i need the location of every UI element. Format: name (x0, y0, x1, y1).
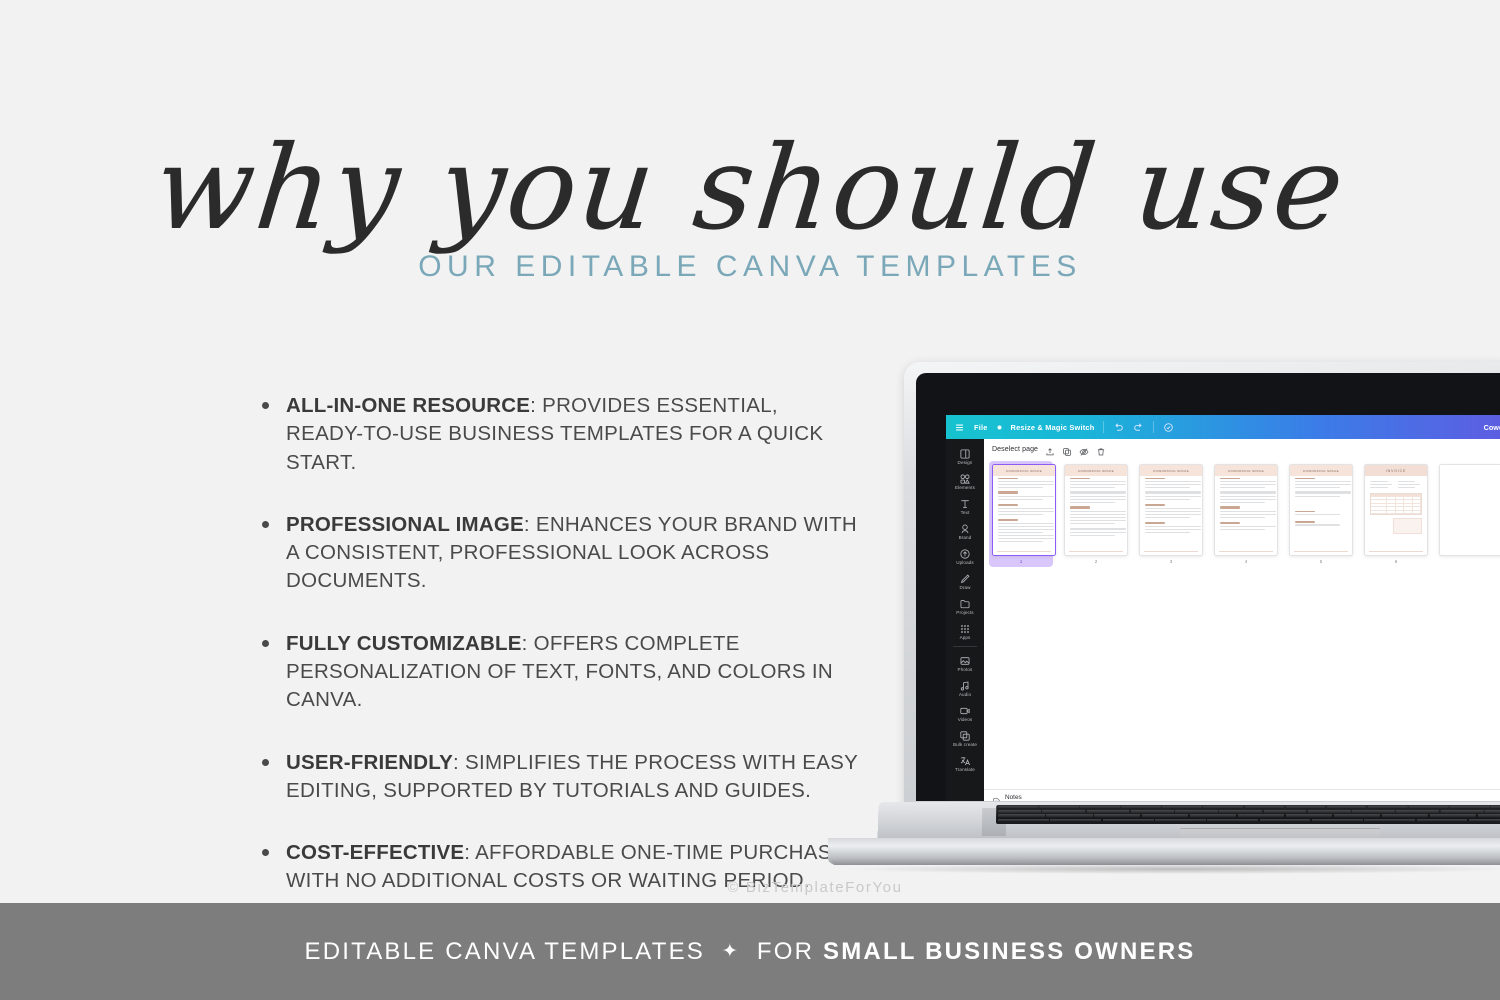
laptop-screen: File Resize & Magic Switch (916, 373, 1500, 801)
page-number: 3 (1139, 559, 1203, 564)
canva-topbar: File Resize & Magic Switch (946, 415, 1500, 439)
diamond-icon: ✦ (722, 940, 740, 963)
page-preview: COWORKING SPACE (1214, 464, 1278, 556)
page-preview (1439, 464, 1500, 556)
list-item: ALL-IN-ONE RESOURCE: PROVIDES ESSENTIAL,… (258, 392, 858, 477)
sidebar-item-elements[interactable]: Elements (946, 468, 984, 493)
export-page-icon[interactable] (1045, 444, 1055, 454)
sidebar-label: Projects (946, 610, 984, 615)
sidebar-item-text[interactable]: Text (946, 493, 984, 518)
canva-canvas-area: Deselect page (984, 439, 1500, 801)
laptop-shadow (848, 864, 1500, 874)
benefit-title: USER-FRIENDLY (286, 751, 453, 774)
page-header-band: COWORKING SPACE (1290, 465, 1352, 476)
redo-icon[interactable] (1133, 422, 1144, 433)
canva-editor: File Resize & Magic Switch (946, 415, 1500, 801)
page-header-band: COWORKING SPACE (1065, 465, 1127, 476)
page-header-band: COWORKING SPACE (1140, 465, 1202, 476)
design-icon (959, 447, 971, 459)
page-number: 6 (1364, 559, 1428, 564)
page-header-title: INVOICE (1386, 469, 1406, 473)
page-toolbar: Deselect page (984, 439, 1500, 458)
notes-icon (992, 793, 1001, 801)
sidebar-item-audio[interactable]: Audio (946, 675, 984, 700)
sidebar-item-design[interactable]: Design (946, 443, 984, 468)
draw-icon (959, 572, 971, 584)
duplicate-page-icon[interactable] (1062, 444, 1072, 454)
hamburger-menu-icon[interactable] (954, 422, 965, 433)
page-header-title: COWORKING SPACE (1078, 469, 1114, 473)
sidebar-label: Uploads (946, 560, 984, 565)
sidebar-label: Translate (946, 767, 984, 772)
magic-edit-icon[interactable] (1079, 444, 1089, 454)
page-thumbnail-strip: COWORKING SPACE 1 (984, 458, 1500, 567)
text-icon (959, 497, 971, 509)
toolbar-divider (1103, 421, 1104, 433)
sidebar-label: Photos (946, 667, 984, 672)
laptop-lid: File Resize & Magic Switch (904, 362, 1500, 814)
page-header-band: COWORKING SPACE (993, 465, 1055, 476)
benefit-title: COST-EFFECTIVE (286, 841, 464, 864)
page-number: 4 (1214, 559, 1278, 564)
page-thumbnail-4[interactable]: COWORKING SPACE 4 (1214, 464, 1278, 564)
page-thumbnail-1[interactable]: COWORKING SPACE 1 (989, 461, 1053, 567)
benefit-title: ALL-IN-ONE RESOURCE (286, 394, 530, 417)
page-thumbnail-7[interactable] (1439, 464, 1500, 556)
page-subtitle: OUR EDITABLE CANVA TEMPLATES (0, 250, 1500, 284)
benefit-title: PROFESSIONAL IMAGE (286, 513, 524, 536)
page-thumbnail-6[interactable]: INVOICE (1364, 464, 1428, 564)
invoice-info-blocks (1365, 476, 1427, 490)
apps-icon (959, 622, 971, 634)
watermark: © BizTemplateForYou (0, 879, 1500, 896)
footer-text: EDITABLE CANVA TEMPLATES ✦ FOR SMALL BUS… (305, 938, 1196, 966)
sidebar-item-uploads[interactable]: Uploads (946, 543, 984, 568)
sidebar-label: Draw (946, 585, 984, 590)
delete-page-icon[interactable] (1096, 444, 1106, 454)
invoice-table (1370, 493, 1422, 515)
videos-icon (959, 704, 971, 716)
resize-magic-switch-button[interactable]: Resize & Magic Switch (1011, 423, 1095, 432)
laptop-keyboard (996, 805, 1500, 824)
page-preview: COWORKING SPACE (1139, 464, 1203, 556)
sidebar-label: Brand (946, 535, 984, 540)
sidebar-item-brand[interactable]: Brand (946, 518, 984, 543)
bulk-create-icon (959, 729, 971, 741)
page-header-band: COWORKING SPACE (1215, 465, 1277, 476)
page-header-title: COWORKING SPACE (1228, 469, 1264, 473)
page-preview: COWORKING SPACE (1289, 464, 1353, 556)
sidebar-item-bulk-create[interactable]: Bulk create (946, 725, 984, 750)
footer-lead: EDITABLE CANVA TEMPLATES (305, 938, 705, 965)
undo-icon[interactable] (1113, 422, 1124, 433)
photos-icon (959, 654, 971, 666)
canva-sidebar: Design Elements Text Brand (946, 439, 984, 801)
laptop-base (818, 802, 1500, 868)
page-preview: INVOICE (1364, 464, 1428, 556)
benefit-title: FULLY CUSTOMIZABLE (286, 632, 522, 655)
audio-icon (959, 679, 971, 691)
page-header-band: INVOICE (1365, 465, 1427, 476)
page-thumbnail-3[interactable]: COWORKING SPACE 3 (1139, 464, 1203, 564)
sidebar-label: Bulk create (946, 742, 984, 747)
footer-bar: EDITABLE CANVA TEMPLATES ✦ FOR SMALL BUS… (0, 903, 1500, 1000)
laptop-base-top (877, 802, 1500, 842)
list-item: PROFESSIONAL IMAGE: ENHANCES YOUR BRAND … (258, 511, 858, 596)
page-header-title: COWORKING SPACE (1006, 469, 1042, 473)
page-title: why you should use (0, 128, 1500, 250)
magic-sparkle-icon (997, 425, 1002, 430)
footer-mid: FOR (757, 938, 814, 965)
projects-icon (959, 597, 971, 609)
sidebar-item-photos[interactable]: Photos (946, 650, 984, 675)
page-header-title: COWORKING SPACE (1303, 469, 1339, 473)
page-number: 5 (1289, 559, 1353, 564)
page-number: 2 (1064, 559, 1128, 564)
deselect-page-button[interactable]: Deselect page (992, 446, 1038, 453)
page-preview: COWORKING SPACE (1064, 464, 1128, 556)
toolbar-divider (1153, 421, 1154, 433)
invoice-totals (1393, 518, 1422, 534)
page-number: 1 (992, 559, 1050, 564)
file-menu-button[interactable]: File (974, 423, 988, 432)
sidebar-label: Text (946, 510, 984, 515)
sidebar-item-apps[interactable]: Apps (946, 618, 984, 643)
laptop-mockup: File Resize & Magic Switch (818, 362, 1500, 872)
sidebar-item-draw[interactable]: Draw (946, 568, 984, 593)
page-thumbnail-5[interactable]: COWORKING SPACE 5 (1289, 464, 1353, 564)
sidebar-item-translate[interactable]: Translate (946, 750, 984, 775)
sidebar-item-projects[interactable]: Projects (946, 593, 984, 618)
sidebar-label: Apps (946, 635, 984, 640)
brand-icon (959, 522, 971, 534)
sidebar-label: Design (946, 460, 984, 465)
translate-icon (959, 754, 971, 766)
sidebar-label: Videos (946, 717, 984, 722)
sidebar-label: Audio (946, 692, 984, 697)
page-preview: COWORKING SPACE (992, 464, 1056, 556)
page-header-title: COWORKING SPACE (1153, 469, 1189, 473)
page-thumbnail-2[interactable]: COWORKING SPACE 2 (1064, 464, 1128, 564)
list-item: FULLY CUSTOMIZABLE: OFFERS COMPLETE PERS… (258, 630, 858, 715)
elements-icon (959, 472, 971, 484)
uploads-icon (959, 547, 971, 559)
list-item: USER-FRIENDLY: SIMPLIFIES THE PROCESS WI… (258, 749, 858, 806)
notes-bar[interactable]: Notes (984, 789, 1500, 801)
document-title[interactable]: Coworking Spa (1484, 423, 1500, 432)
canva-body: Design Elements Text Brand (946, 439, 1500, 801)
cloud-sync-icon[interactable] (1163, 422, 1174, 433)
sidebar-label: Elements (946, 485, 984, 490)
benefits-list: ALL-IN-ONE RESOURCE: PROVIDES ESSENTIAL,… (258, 392, 858, 930)
sidebar-divider (953, 646, 977, 647)
footer-bold: SMALL BUSINESS OWNERS (823, 938, 1195, 965)
notes-label: Notes (1005, 794, 1022, 801)
sidebar-item-videos[interactable]: Videos (946, 700, 984, 725)
